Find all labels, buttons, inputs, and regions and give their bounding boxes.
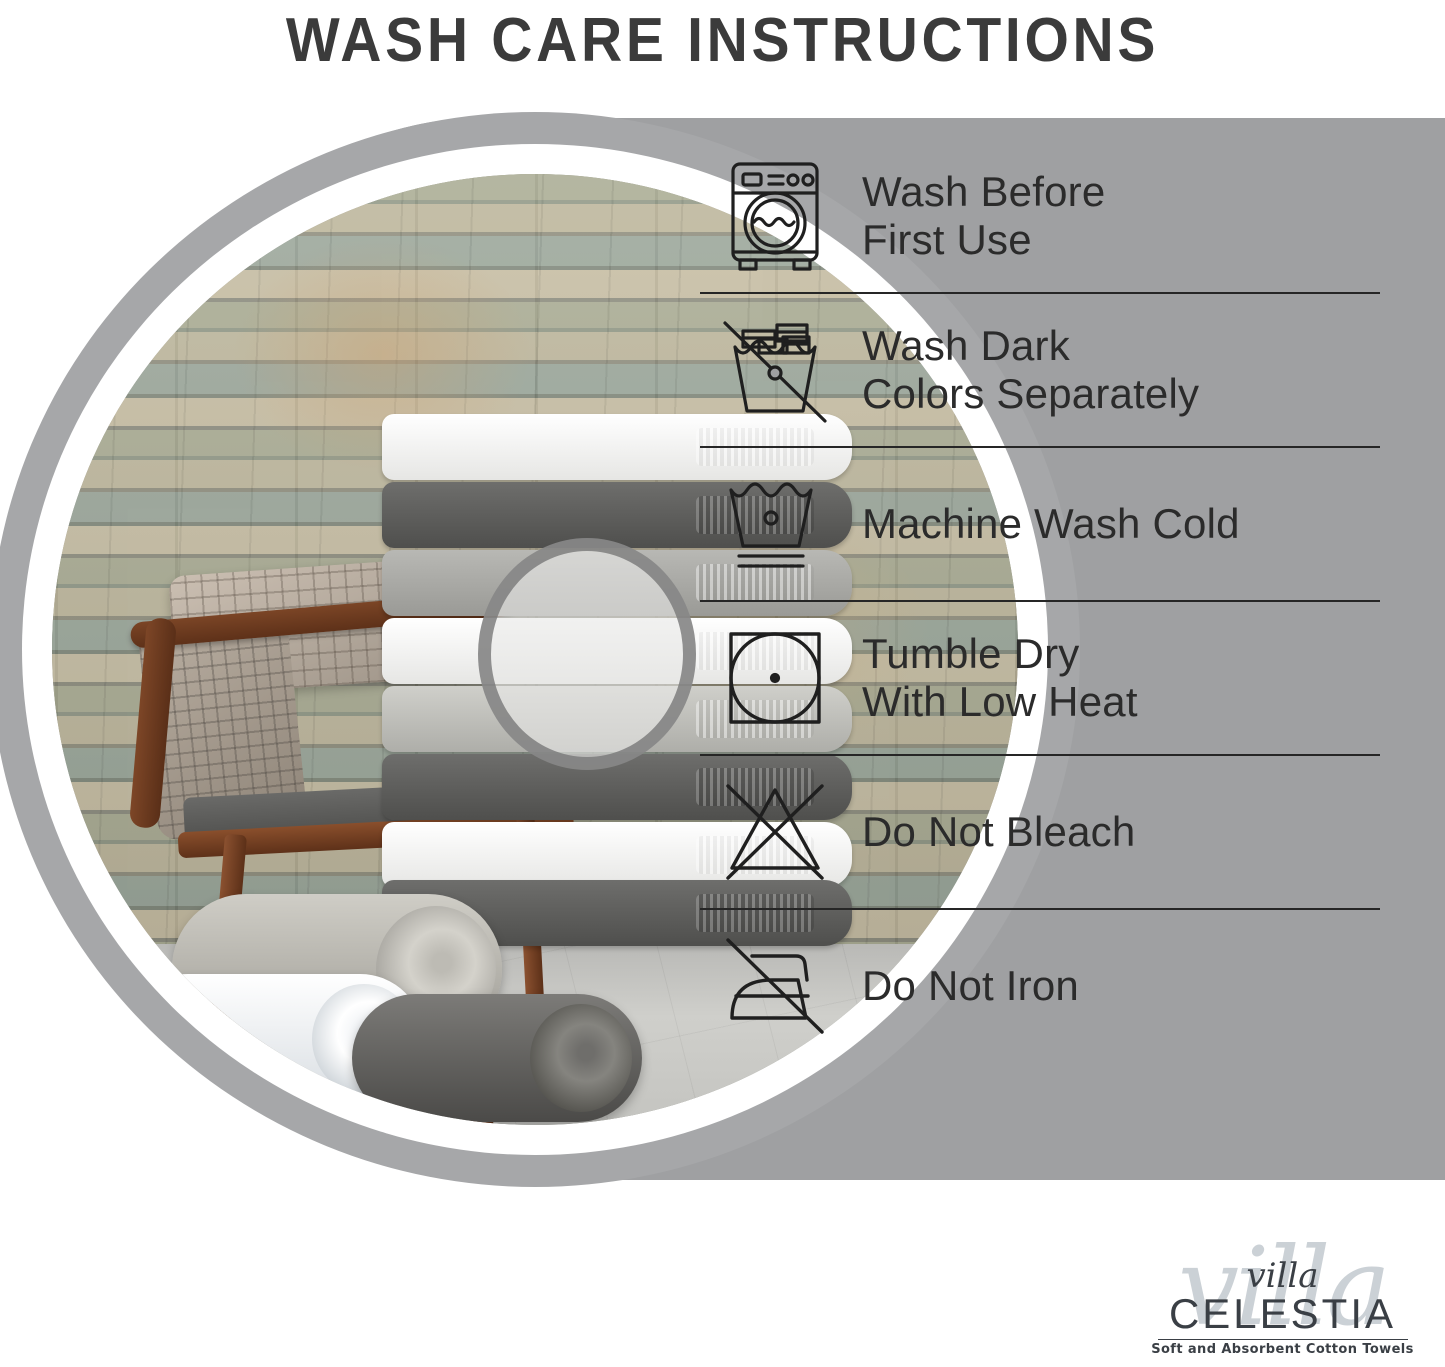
brand-logo: villa villa CELESTIA Soft and Absorbent … [1130,1238,1435,1363]
rolled-towel-dark [352,994,642,1122]
washing-machine-icon [700,160,850,272]
care-instruction-label: Do Not Bleach [850,808,1135,856]
machine-wash-cold-tub-icon [700,474,850,574]
care-instruction-label: Do Not Iron [850,962,1079,1010]
tumble-dry-low-heat-icon [700,626,850,730]
care-instruction-label: Machine Wash Cold [850,500,1240,548]
care-instruction-row: Wash Before First Use [700,140,1380,292]
care-instruction-label: Wash Dark Colors Separately [850,322,1199,418]
care-instruction-row: Machine Wash Cold [700,446,1380,600]
page-title: WASH CARE INSTRUCTIONS [58,0,1387,80]
care-instruction-label: Wash Before First Use [850,168,1105,264]
lens-overlay-circle [478,538,696,770]
care-instruction-row: Tumble Dry With Low Heat [700,600,1380,754]
care-instruction-row: Do Not Bleach [700,754,1380,908]
do-not-iron-icon [700,934,850,1038]
care-instruction-row: Wash Dark Colors Separately [700,292,1380,446]
care-instruction-row: Do Not Iron [700,908,1380,1062]
care-instruction-list: Wash Before First Use Wash Dark Colors S… [700,140,1380,1062]
logo-divider [1158,1339,1408,1340]
logo-tagline: Soft and Absorbent Cotton Towels [1130,1342,1435,1357]
logo-brand-name: CELESTIA [1130,1290,1435,1338]
care-instruction-label: Tumble Dry With Low Heat [850,630,1138,726]
do-not-bleach-triangle-icon [700,780,850,884]
no-mixed-colors-basket-icon [700,317,850,423]
